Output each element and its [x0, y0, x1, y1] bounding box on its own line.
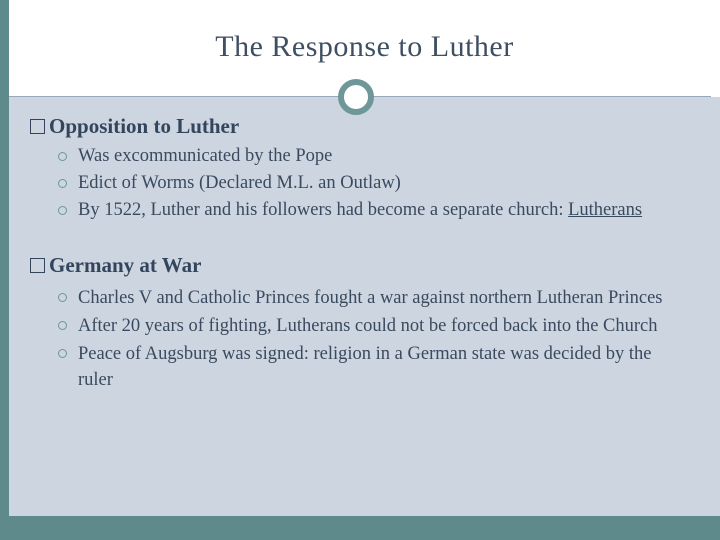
list-item: After 20 years of fighting, Lutherans co…	[58, 313, 690, 339]
list-item-text: Edict of Worms (Declared M.L. an Outlaw)	[78, 173, 401, 193]
section-heading: Opposition to Luther	[30, 112, 690, 140]
list-item-text: After 20 years of fighting, Lutherans co…	[78, 316, 658, 336]
section-heading: Germany at War	[30, 251, 690, 279]
section-spacer	[30, 229, 690, 251]
list-item-text: Peace of Augsburg was signed: religion i…	[78, 344, 652, 390]
circle-bullet-icon	[58, 179, 67, 188]
ring-decoration-icon	[338, 79, 374, 115]
lutherans-link[interactable]: Lutherans	[568, 200, 642, 220]
list-item: By 1522, Luther and his followers had be…	[58, 198, 690, 223]
slide: The Response to Luther Opposition to Lut…	[0, 0, 720, 540]
section-opposition: Opposition to Luther Was excommunicated …	[30, 112, 690, 223]
left-accent-bar	[0, 0, 9, 516]
square-bullet-icon	[30, 258, 45, 273]
circle-bullet-icon	[58, 349, 67, 358]
list-item-text: By 1522, Luther and his followers had be…	[78, 200, 642, 220]
list-item: Charles V and Catholic Princes fought a …	[58, 285, 690, 311]
page-title: The Response to Luther	[9, 30, 720, 64]
circle-bullet-icon	[58, 293, 67, 302]
list-item-text: Charles V and Catholic Princes fought a …	[78, 288, 662, 308]
section-germany-at-war: Germany at War Charles V and Catholic Pr…	[30, 251, 690, 393]
section-heading-label: Opposition to Luther	[49, 112, 239, 140]
bottom-accent-bar	[0, 516, 720, 540]
list-item: Peace of Augsburg was signed: religion i…	[58, 341, 690, 393]
list-item: Was excommunicated by the Pope	[58, 144, 690, 169]
bullet-list: Was excommunicated by the Pope Edict of …	[30, 144, 690, 223]
circle-bullet-icon	[58, 206, 67, 215]
circle-bullet-icon	[58, 152, 67, 161]
bullet-list: Charles V and Catholic Princes fought a …	[30, 285, 690, 393]
slide-content: Opposition to Luther Was excommunicated …	[30, 112, 690, 399]
section-heading-label: Germany at War	[49, 251, 201, 279]
circle-bullet-icon	[58, 321, 67, 330]
list-item-text: Was excommunicated by the Pope	[78, 146, 332, 166]
square-bullet-icon	[30, 119, 45, 134]
list-item: Edict of Worms (Declared M.L. an Outlaw)	[58, 171, 690, 196]
